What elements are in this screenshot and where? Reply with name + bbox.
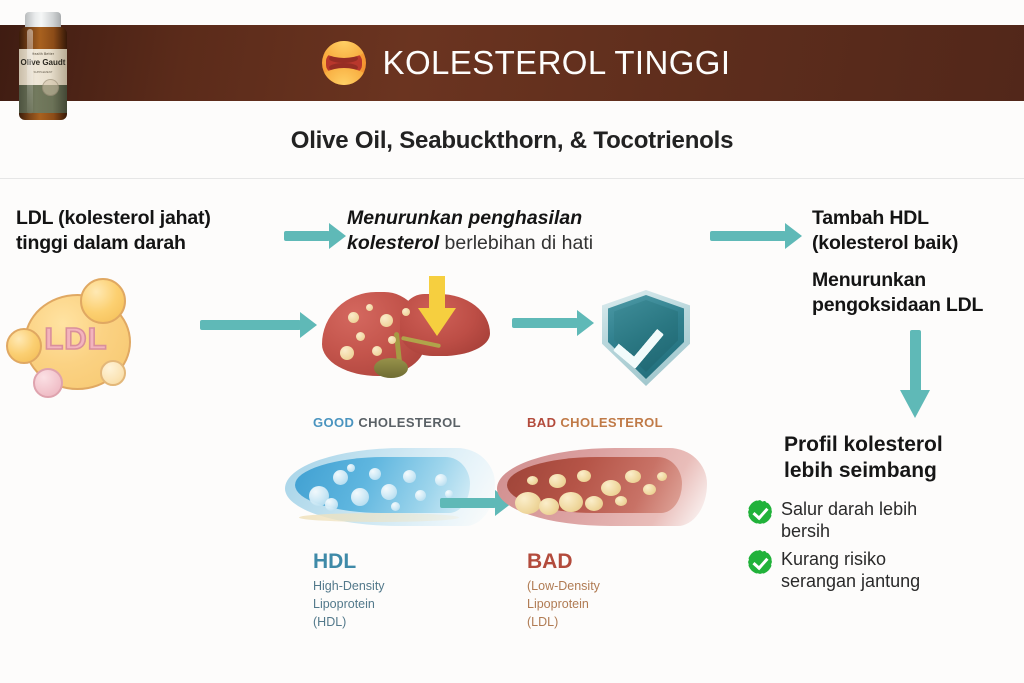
bottle-seal-badge [42, 79, 59, 96]
check-badge-icon [748, 500, 772, 524]
benefit-text-line: bersih [781, 520, 917, 542]
result-title-line-1: Profil kolesterol [784, 432, 1014, 458]
step-1-line-1: LDL (kolesterol jahat) [16, 206, 316, 231]
benefit-text-line: Kurang risiko [781, 548, 920, 570]
liver-fat-deposit [388, 336, 396, 344]
section-divider [0, 178, 1024, 179]
step-3-line-2: (kolesterol baik) [812, 231, 1024, 256]
benefit-text: Salur darah lebih bersih [781, 498, 917, 543]
page-title: KOLESTEROL TINGGI [383, 44, 731, 82]
liver-fat-deposit [402, 308, 410, 316]
bad-description: (Low-Density Lipoprotein (LDL) [527, 578, 600, 631]
hdl-description-line: High-Density [313, 578, 385, 596]
hdl-description-line: Lipoprotein [313, 596, 385, 614]
bad-cholesterol-tag: BAD CHOLESTEROL [527, 415, 663, 430]
header-banner: KOLESTEROL TINGGI [0, 25, 1024, 101]
bottle-body: Health Better Olive Gaudt SUPPLEMENT [19, 27, 67, 120]
step-1-line-2: tinggi dalam darah [16, 231, 316, 256]
step-2-line-2: kolesterol berlebihan di hati [347, 231, 687, 256]
step-2-text: Menurunkan penghasilan kolesterol berleb… [347, 206, 687, 257]
step-1-text: LDL (kolesterol jahat) tinggi dalam dara… [16, 206, 316, 256]
step-2-rest-text: berlebihan di hati [439, 232, 593, 254]
liver-fat-deposit [372, 346, 382, 356]
infographic-canvas: KOLESTEROL TINGGI Health Better Olive Ga… [0, 0, 1024, 683]
hdl-description-line: (HDL) [313, 614, 385, 632]
liver-graphic [322, 284, 490, 388]
arrow-right-icon-ldl-to-liver [200, 312, 318, 338]
arrow-right-icon-step1-to-step2 [284, 223, 346, 249]
header-banner-content: KOLESTEROL TINGGI [322, 41, 731, 85]
liver-fat-deposit [348, 312, 359, 323]
step-3-secondary-text: Menurunkan pengoksidaan LDL [812, 268, 1024, 318]
artery-cross-section-icon [322, 41, 366, 85]
bad-description-line: (LDL) [527, 614, 600, 632]
benefit-text-line: Salur darah lebih [781, 498, 917, 520]
ldl-satellite-circle-4 [100, 360, 126, 386]
result-title: Profil kolesterol lebih seimbang [784, 432, 1014, 485]
step-3-line-4: pengoksidaan LDL [812, 293, 1024, 318]
liver-fat-deposit [356, 332, 365, 341]
ingredients-subtitle: Olive Oil, Seabuckthorn, & Tocotrienols [0, 127, 1024, 155]
liver-fat-deposit [380, 314, 393, 327]
step-3-line-1: Tambah HDL [812, 206, 1024, 231]
bad-name-label: BAD [527, 550, 573, 574]
product-bottle-image: Health Better Olive Gaudt SUPPLEMENT [12, 12, 74, 120]
gallbladder [374, 358, 408, 378]
arrow-right-icon-step2-to-step3 [710, 223, 802, 249]
arrow-right-icon-liver-to-shield [512, 310, 594, 336]
check-badge-icon [748, 550, 772, 574]
benefit-item: Kurang risiko serangan jantung [748, 548, 1024, 593]
step-2-emphasis-word: kolesterol [347, 232, 439, 254]
good-cholesterol-tag: GOOD CHOLESTEROL [313, 415, 461, 430]
step-3-line-3: Menurunkan [812, 268, 1024, 293]
good-cholesterol-tag-rest: CHOLESTEROL [358, 415, 461, 430]
hdl-name-label: HDL [313, 550, 356, 574]
ldl-particle-graphic: LDL [6, 276, 156, 401]
ldl-satellite-circle-1 [80, 278, 126, 324]
clogged-blood-vessel-graphic [497, 440, 723, 536]
ldl-graphic-label: LDL [26, 321, 126, 357]
arrow-down-icon-to-result [900, 330, 930, 418]
bad-description-line: Lipoprotein [527, 596, 600, 614]
step-3-text: Tambah HDL (kolesterol baik) [812, 206, 1024, 256]
bottle-highlight [27, 29, 33, 114]
good-cholesterol-tag-strong: GOOD [313, 415, 354, 430]
bad-description-line: (Low-Density [527, 578, 600, 596]
bad-cholesterol-tag-strong: BAD [527, 415, 556, 430]
hdl-description: High-Density Lipoprotein (HDL) [313, 578, 385, 631]
result-title-line-2: lebih seimbang [784, 458, 1014, 484]
step-2-line-1: Menurunkan penghasilan [347, 206, 687, 231]
liver-fat-deposit [366, 304, 373, 311]
arrow-down-icon-liver [418, 276, 456, 338]
ldl-satellite-circle-3 [33, 368, 63, 398]
benefit-text-line: serangan jantung [781, 570, 920, 592]
liver-fat-deposit [340, 346, 354, 360]
shield-check-icon [602, 290, 690, 386]
bad-cholesterol-tag-rest: CHOLESTEROL [560, 415, 663, 430]
benefit-text: Kurang risiko serangan jantung [781, 548, 920, 593]
benefit-item: Salur darah lebih bersih [748, 498, 1024, 543]
healthy-blood-vessel-graphic [285, 440, 511, 536]
